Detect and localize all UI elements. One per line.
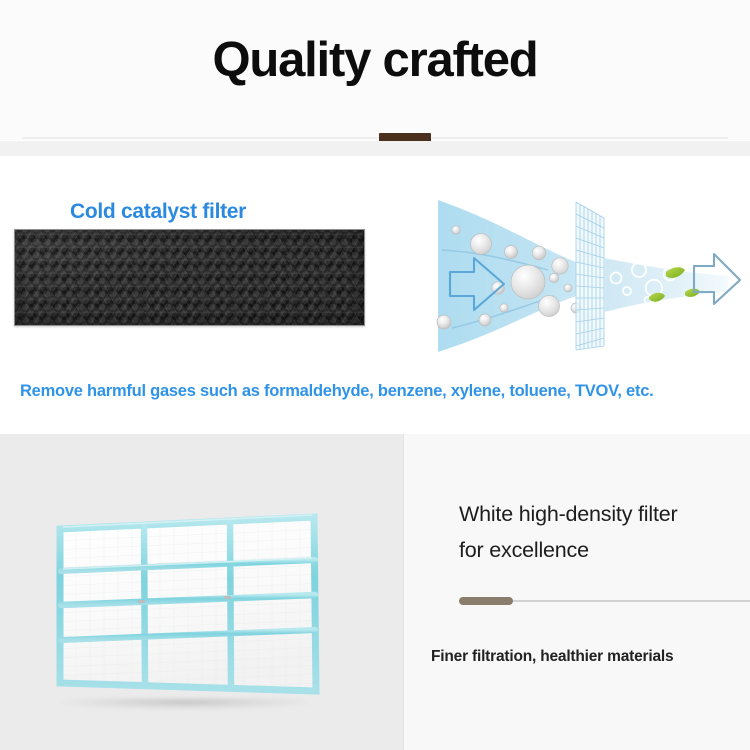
white-high-density-filter-frame-image <box>52 505 324 710</box>
product-feature-page: Quality crafted Cold catalyst filter <box>0 0 750 750</box>
cold-catalyst-heading: Cold catalyst filter <box>70 200 246 224</box>
finer-filtration-caption: Finer filtration, healthier materials <box>431 648 673 666</box>
white-filter-heading-line1: White high-density filter <box>459 496 739 532</box>
accent-bar <box>459 597 513 605</box>
mesh-filter-screen <box>576 202 604 350</box>
accent-rail <box>505 600 750 602</box>
airflow-filtration-diagram <box>408 196 748 356</box>
outlet-air-stream <box>604 254 740 312</box>
bottom-right-panel <box>403 434 750 750</box>
white-filter-heading-line2: for excellence <box>459 532 739 568</box>
header-divider-rule <box>22 137 728 139</box>
page-title: Quality crafted <box>0 34 750 88</box>
white-filter-heading: White high-density filter for excellence <box>459 496 739 568</box>
cold-catalyst-honeycomb-filter-image <box>14 229 365 326</box>
panel-divider <box>403 434 404 750</box>
cold-catalyst-section: Cold catalyst filter <box>0 156 750 434</box>
header-sub-band <box>0 141 750 156</box>
gas-removal-caption: Remove harmful gases such as formaldehyd… <box>20 382 653 401</box>
